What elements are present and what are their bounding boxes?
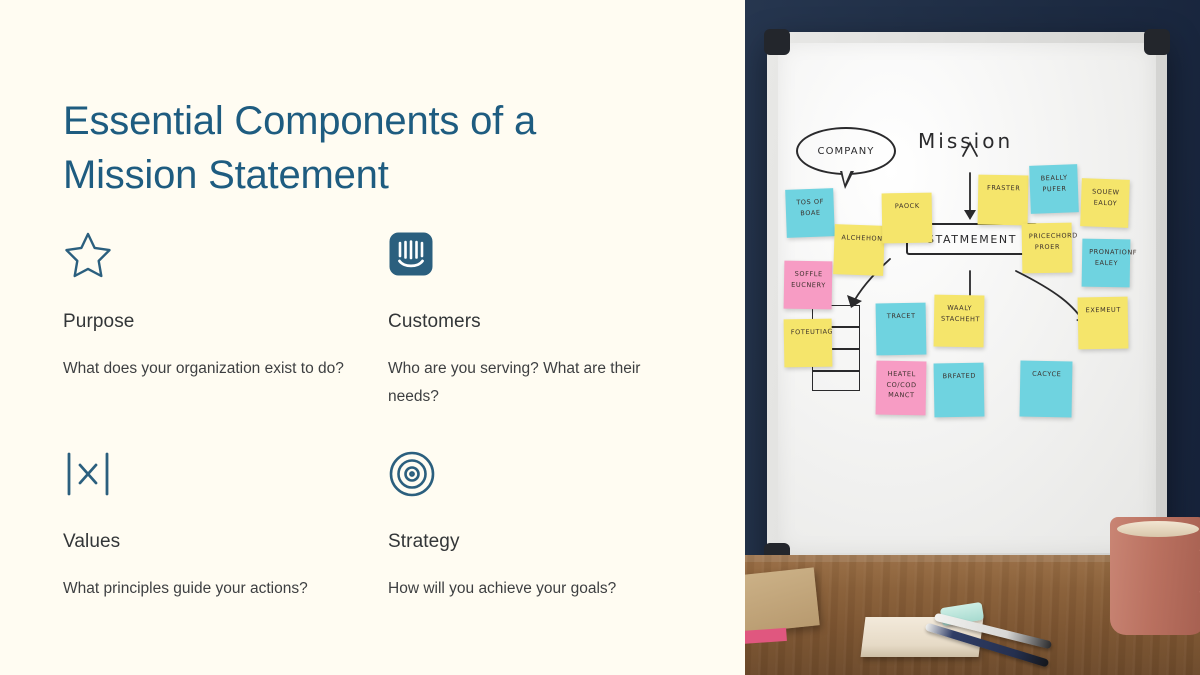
sticky-note-text: BEALLY PUFER (1036, 172, 1072, 195)
component-card-strategy: Strategy How will you achieve your goals… (388, 445, 713, 665)
intercom-chat-icon (388, 225, 695, 283)
sticky-note: CACYCE (1020, 361, 1073, 418)
component-card-customers: Customers Who are you serving? What are … (388, 225, 713, 445)
component-body: What does your organization exist to do? (63, 355, 348, 383)
sticky-note: EXEMEUT (1078, 297, 1129, 350)
sticky-note-text: PAOCK (889, 201, 926, 212)
notebook (745, 567, 820, 636)
sticky-note-text: HEATEL CO/COD MANCT (883, 369, 921, 402)
component-heading: Values (63, 531, 370, 553)
statement-box-label: STATMEMENT (927, 233, 1017, 246)
component-heading: Purpose (63, 311, 370, 333)
component-body: What principles guide your actions? (63, 575, 348, 603)
sticky-note-text: FRASTER (985, 183, 1022, 194)
ladder-rung (812, 370, 860, 372)
component-body: How will you achieve your goals? (388, 575, 673, 603)
sticky-note: TOS OF BOAE (785, 188, 835, 238)
sticky-note-text: TOS OF BOAE (792, 196, 828, 219)
sticky-note-text: WAALY STACHEHT (941, 303, 978, 325)
sticky-note-text: ALCHEHOND (841, 232, 878, 244)
sticky-note: FRASTER (978, 175, 1029, 226)
sticky-note-text: SOUEW EALOY (1088, 186, 1124, 209)
sticky-note: PAOCK (882, 193, 933, 244)
coffee-mug (1110, 517, 1200, 635)
sticky-note-text: EXEMEUT (1085, 305, 1122, 316)
star-icon (63, 225, 370, 283)
component-card-purpose: Purpose What does your organization exis… (63, 225, 388, 445)
target-bullseye-icon (388, 445, 695, 503)
sticky-note-text: FOTEUTIAG (791, 327, 826, 338)
sticky-note-text: CACYCE (1027, 369, 1066, 380)
component-body: Who are you serving? What are their need… (388, 355, 673, 411)
sticky-note: SOFFLE EUCNERY (784, 261, 833, 310)
sticky-note: WAALY STACHEHT (934, 295, 985, 348)
sticky-note-text: TRACET (883, 311, 920, 322)
sticky-note: SOUEW EALOY (1080, 178, 1130, 228)
sticky-note: PRICECHORD PROER (1022, 223, 1073, 274)
sticky-note: TRACET (876, 303, 927, 356)
component-heading: Strategy (388, 531, 695, 553)
page-title: Essential Components of a Mission Statem… (63, 94, 663, 203)
sticky-note: PRONATIONF EALEY (1082, 239, 1131, 288)
board-corner-bracket (1144, 29, 1170, 55)
x-between-bars-icon (63, 445, 370, 503)
components-grid: Purpose What does your organization exis… (63, 225, 703, 665)
sticky-note-text: PRONATIONF EALEY (1089, 247, 1124, 269)
whiteboard-photo: COMPANY Mission (745, 0, 1200, 675)
sticky-note-text: BRFATED (941, 371, 978, 382)
component-card-values: Values What principles guide your action… (63, 445, 388, 665)
whiteboard-frame: COMPANY Mission (767, 32, 1167, 577)
sticky-note: BEALLY PUFER (1029, 164, 1079, 214)
slide: Essential Components of a Mission Statem… (0, 0, 1200, 675)
board-corner-bracket (764, 29, 790, 55)
content-panel: Essential Components of a Mission Statem… (0, 0, 745, 675)
whiteboard-surface: COMPANY Mission (778, 43, 1156, 553)
sticky-note-text: SOFFLE EUCNERY (791, 269, 826, 291)
sticky-note: HEATEL CO/COD MANCT (876, 361, 927, 416)
mug-handle (1192, 543, 1200, 599)
component-heading: Customers (388, 311, 695, 333)
sticky-note-text: PRICECHORD PROER (1029, 231, 1066, 253)
sticky-note: FOTEUTIAG (784, 319, 833, 368)
sticky-note: ALCHEHOND (833, 224, 885, 276)
sticky-note: BRFATED (934, 363, 985, 418)
